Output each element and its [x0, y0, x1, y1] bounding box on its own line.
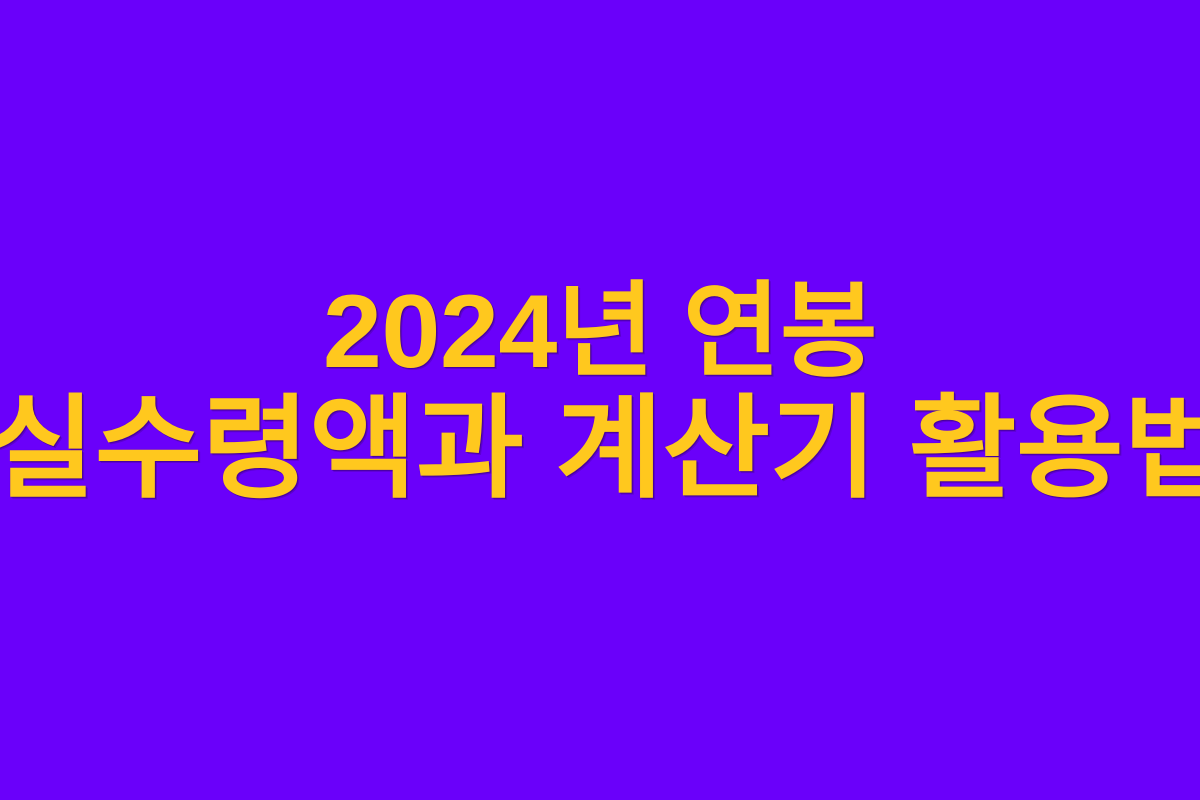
headline-line-1: 2024년 연봉: [2, 275, 1197, 389]
headline-block: 2024년 연봉 실수령액과 계산기 활용법: [0, 275, 1200, 509]
headline-line-2: 실수령액과 계산기 활용법: [0, 389, 1200, 509]
banner-canvas: 2024년 연봉 실수령액과 계산기 활용법: [0, 0, 1200, 800]
